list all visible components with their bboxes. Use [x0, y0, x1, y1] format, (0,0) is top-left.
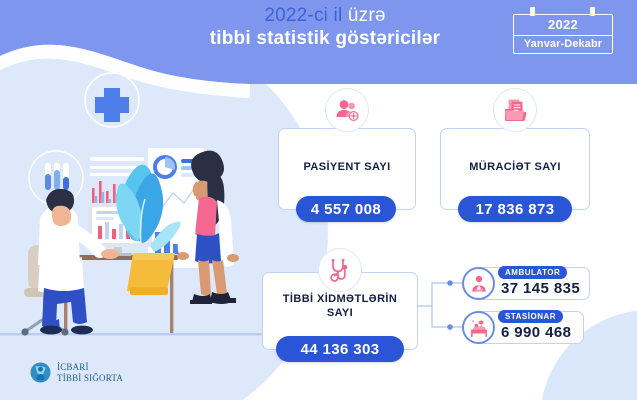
- calendar-range: Yanvar-Dekabr: [514, 36, 612, 53]
- hospital-bed-icon: [462, 311, 495, 344]
- calendar-tab-left: [530, 7, 535, 16]
- documents-folder-icon: [493, 88, 537, 132]
- people-add-icon: [325, 88, 369, 132]
- brand-logo-text: İCBARİ TİBBİ SIĞORTA: [57, 362, 123, 382]
- sub-stat-tag-inpatient: STASİONAR: [498, 310, 563, 323]
- infographic-canvas: 2022-ci il üzrə tibbi statistik göstəric…: [0, 0, 637, 400]
- sub-stat-value-outpatient: 37 145 835: [501, 280, 580, 297]
- stat-card-services-label: TİBBİ XİDMƏTLƏRİN SAYI: [263, 293, 417, 321]
- brand-line-1: İCBARİ: [57, 362, 123, 372]
- calendar-tab-right: [590, 7, 595, 16]
- stat-value-services: 44 136 303: [276, 336, 404, 362]
- stat-value-patients: 4 557 008: [296, 196, 396, 222]
- sub-stat-value-inpatient: 6 990 468: [501, 324, 571, 341]
- stat-card-visits-label: MÜRACİƏT SAYI: [441, 161, 589, 175]
- brand-line-2: TİBBİ SIĞORTA: [57, 373, 123, 383]
- stat-card-services-label-line2: SAYI: [263, 307, 417, 321]
- stethoscope-icon: [318, 248, 362, 292]
- doctor-person-icon: [462, 267, 495, 300]
- calendar-badge: 2022 Yanvar-Dekabr: [513, 7, 613, 54]
- icbari-tibbi-sigorta-logo: [30, 362, 51, 383]
- connector-dot-outpatient: [447, 280, 453, 286]
- stat-value-visits: 17 836 873: [458, 196, 572, 222]
- calendar-icon: [513, 7, 613, 14]
- calendar-year: 2022: [514, 15, 612, 36]
- stat-card-services-label-line1: TİBBİ XİDMƏTLƏRİN: [263, 293, 417, 307]
- stat-card-patients-label: PASİYENT SAYI: [279, 161, 415, 175]
- calendar-body: 2022 Yanvar-Dekabr: [513, 14, 613, 54]
- brand-logo: İCBARİ TİBBİ SIĞORTA: [30, 362, 123, 383]
- connector-dot-inpatient: [447, 324, 453, 330]
- sub-stat-tag-outpatient: AMBULATOR: [498, 266, 567, 279]
